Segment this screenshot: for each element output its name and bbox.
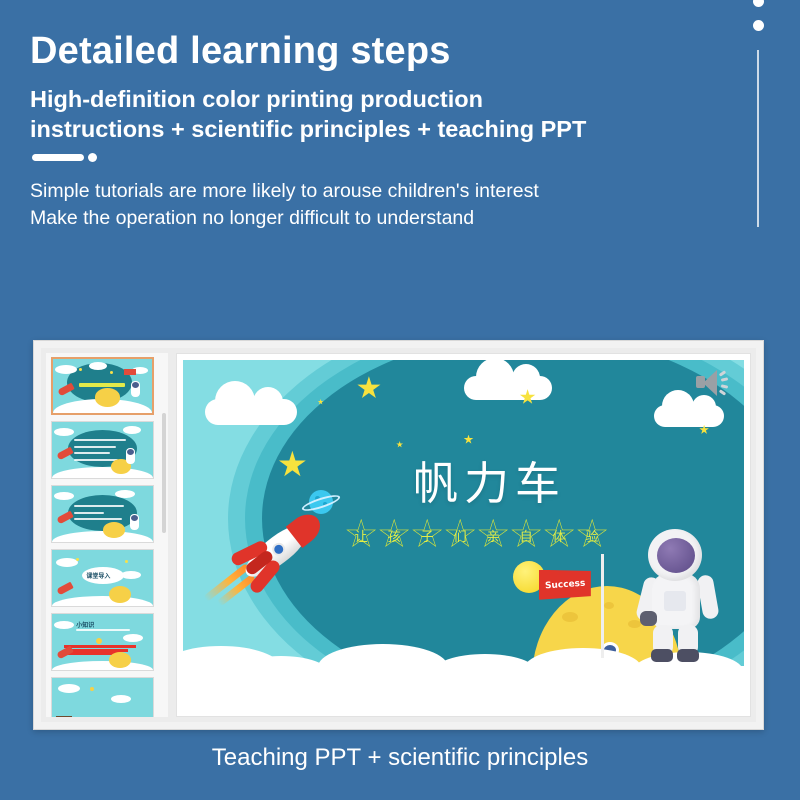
thumb-text-line (74, 446, 116, 448)
ppt-window: 课堂导入 小知识 (33, 340, 764, 730)
subtitle-line-2: instructions + scientific principles + t… (30, 114, 760, 144)
thumb-star (79, 368, 82, 371)
subtitle-star-word: 亲 (478, 519, 509, 550)
thumb-rocket-icon (56, 447, 73, 461)
speaker-icon[interactable] (696, 370, 730, 396)
note-line-2: Make the operation no longer difficult t… (30, 205, 770, 232)
moon-crater (604, 602, 614, 609)
thumb-sun (109, 586, 131, 603)
thumb-text-line (74, 439, 126, 441)
slide-cloud (654, 405, 724, 427)
slide-thumbnail-1[interactable] (51, 357, 154, 415)
slide-thumbnail-5-label: 小知识 (76, 620, 94, 629)
subtitle-char: 孩 (388, 526, 401, 545)
slide-stage[interactable]: 帆力车 让 孩 子 们 (176, 353, 751, 717)
astronaut-boot (651, 649, 673, 662)
thumb-rocket-icon (56, 511, 73, 525)
cloud-base (183, 666, 744, 684)
slide-thumbnail-3[interactable] (51, 485, 154, 543)
thumb-star (90, 687, 94, 691)
slide-thumbnail-6[interactable] (51, 677, 154, 717)
thumbnail-scrollbar[interactable] (162, 413, 166, 533)
speaker-wave (719, 370, 726, 376)
subtitle-star-word: 验 (577, 519, 608, 550)
thumb-star (76, 558, 79, 561)
subtitle-char: 让 (355, 526, 368, 545)
thumb-sun (103, 522, 125, 538)
slide-cloud (464, 376, 552, 400)
thumb-astronaut-icon (126, 448, 135, 464)
speaker-wave (721, 384, 728, 388)
speaker-wave (721, 377, 728, 381)
thumb-cloud (54, 492, 74, 500)
subtitle-star-word: 们 (445, 519, 476, 550)
thumb-ground (52, 661, 153, 670)
subtitle-star-word: 子 (412, 519, 443, 550)
thumb-flag (124, 369, 136, 375)
thumb-sun (95, 388, 121, 406)
astronaut-boot (677, 649, 699, 662)
slide-thumbnail-2[interactable] (51, 421, 154, 479)
subtitle-star-word: 孩 (379, 519, 410, 550)
decorative-dot (753, 0, 764, 7)
subtitle-char: 体 (553, 526, 566, 545)
subtitle-char: 亲 (487, 526, 500, 545)
decorative-dots (753, 0, 764, 44)
page-title: Detailed learning steps (30, 30, 451, 73)
note-line-1: Simple tutorials are more likely to arou… (30, 178, 770, 205)
divider-dot (88, 153, 97, 162)
thumb-sun (109, 652, 131, 668)
thumb-title-bar (79, 383, 125, 387)
thumb-rocket-icon (56, 645, 73, 659)
subtitle-line-1: High-definition color printing productio… (30, 84, 760, 114)
slide-title: 帆力车 (413, 447, 566, 512)
thumb-cloud (54, 621, 74, 629)
moon-crater (562, 612, 578, 622)
astronaut-glove (640, 611, 657, 626)
thumbnail-artwork (52, 678, 153, 717)
thumbnail-artwork (53, 359, 152, 413)
thumbnail-artwork: 课堂导入 (52, 550, 153, 606)
thumb-astronaut-icon (130, 514, 139, 530)
speaker-horn (703, 370, 717, 396)
slide-planet (309, 490, 333, 514)
subtitle-char: 验 (586, 526, 599, 545)
thumb-cloud (123, 634, 143, 642)
thumb-cloud (111, 695, 131, 703)
slide-thumbnail-5[interactable]: 小知识 (51, 613, 154, 671)
thumb-text-line (74, 459, 118, 461)
subtitle-star-word: 让 (346, 519, 377, 550)
divider (32, 153, 97, 162)
success-flag: Success (539, 570, 591, 600)
slide-thumbnail-4-label: 课堂导入 (86, 571, 110, 580)
subtitle-char: 们 (454, 526, 467, 545)
thumb-text-line (74, 512, 104, 514)
subtitle-star-word: 体 (544, 519, 575, 550)
thumbnail-artwork (52, 486, 153, 542)
slide-subtitle-stars: 让 孩 子 们 亲 (346, 519, 608, 550)
slide-thumbnail-4[interactable]: 课堂导入 (51, 549, 154, 607)
thumb-star (96, 638, 102, 644)
thumb-text-line (74, 452, 110, 454)
speaker-wave (719, 389, 726, 395)
thumb-ground (52, 467, 153, 478)
ppt-window-inner: 课堂导入 小知识 (41, 348, 756, 722)
astronaut-large-icon (638, 529, 716, 661)
thumb-rocket-icon (56, 581, 73, 595)
thumb-cloud (58, 684, 80, 693)
subtitle-char: 子 (421, 526, 434, 545)
thumb-astronaut-icon (131, 381, 140, 397)
thumb-box (56, 716, 72, 717)
thumb-text-line (74, 505, 124, 507)
thumb-cloud (54, 428, 74, 436)
thumb-ground (52, 596, 153, 606)
thumb-text-line (76, 629, 130, 631)
thumb-cloud (123, 426, 141, 434)
decorative-vertical-rule (757, 50, 759, 227)
subtitle-star-word: 自 (511, 519, 542, 550)
caption: Teaching PPT + scientific principles (0, 744, 800, 772)
thumb-cloud (56, 558, 78, 567)
slide-cloud (205, 399, 297, 425)
slide-thumbnail-rail[interactable]: 课堂导入 小知识 (46, 353, 168, 717)
slide-bottom-strip (177, 684, 750, 716)
astronaut-chest-panel (664, 591, 686, 611)
current-slide: 帆力车 让 孩 子 们 (183, 360, 744, 684)
subtitle-char: 自 (520, 526, 533, 545)
decorative-dot (753, 20, 764, 31)
flag-pole (601, 554, 604, 658)
header-block: Detailed learning steps High-definition … (0, 0, 800, 330)
page-note: Simple tutorials are more likely to arou… (30, 178, 770, 232)
thumb-star (125, 560, 128, 563)
flag-label: Success (544, 578, 585, 591)
thumbnail-artwork: 小知识 (52, 614, 153, 670)
thumbnail-artwork (52, 422, 153, 478)
page-subtitle: High-definition color printing productio… (30, 84, 760, 144)
divider-bar (32, 154, 84, 161)
thumb-rocket-icon (57, 383, 74, 397)
